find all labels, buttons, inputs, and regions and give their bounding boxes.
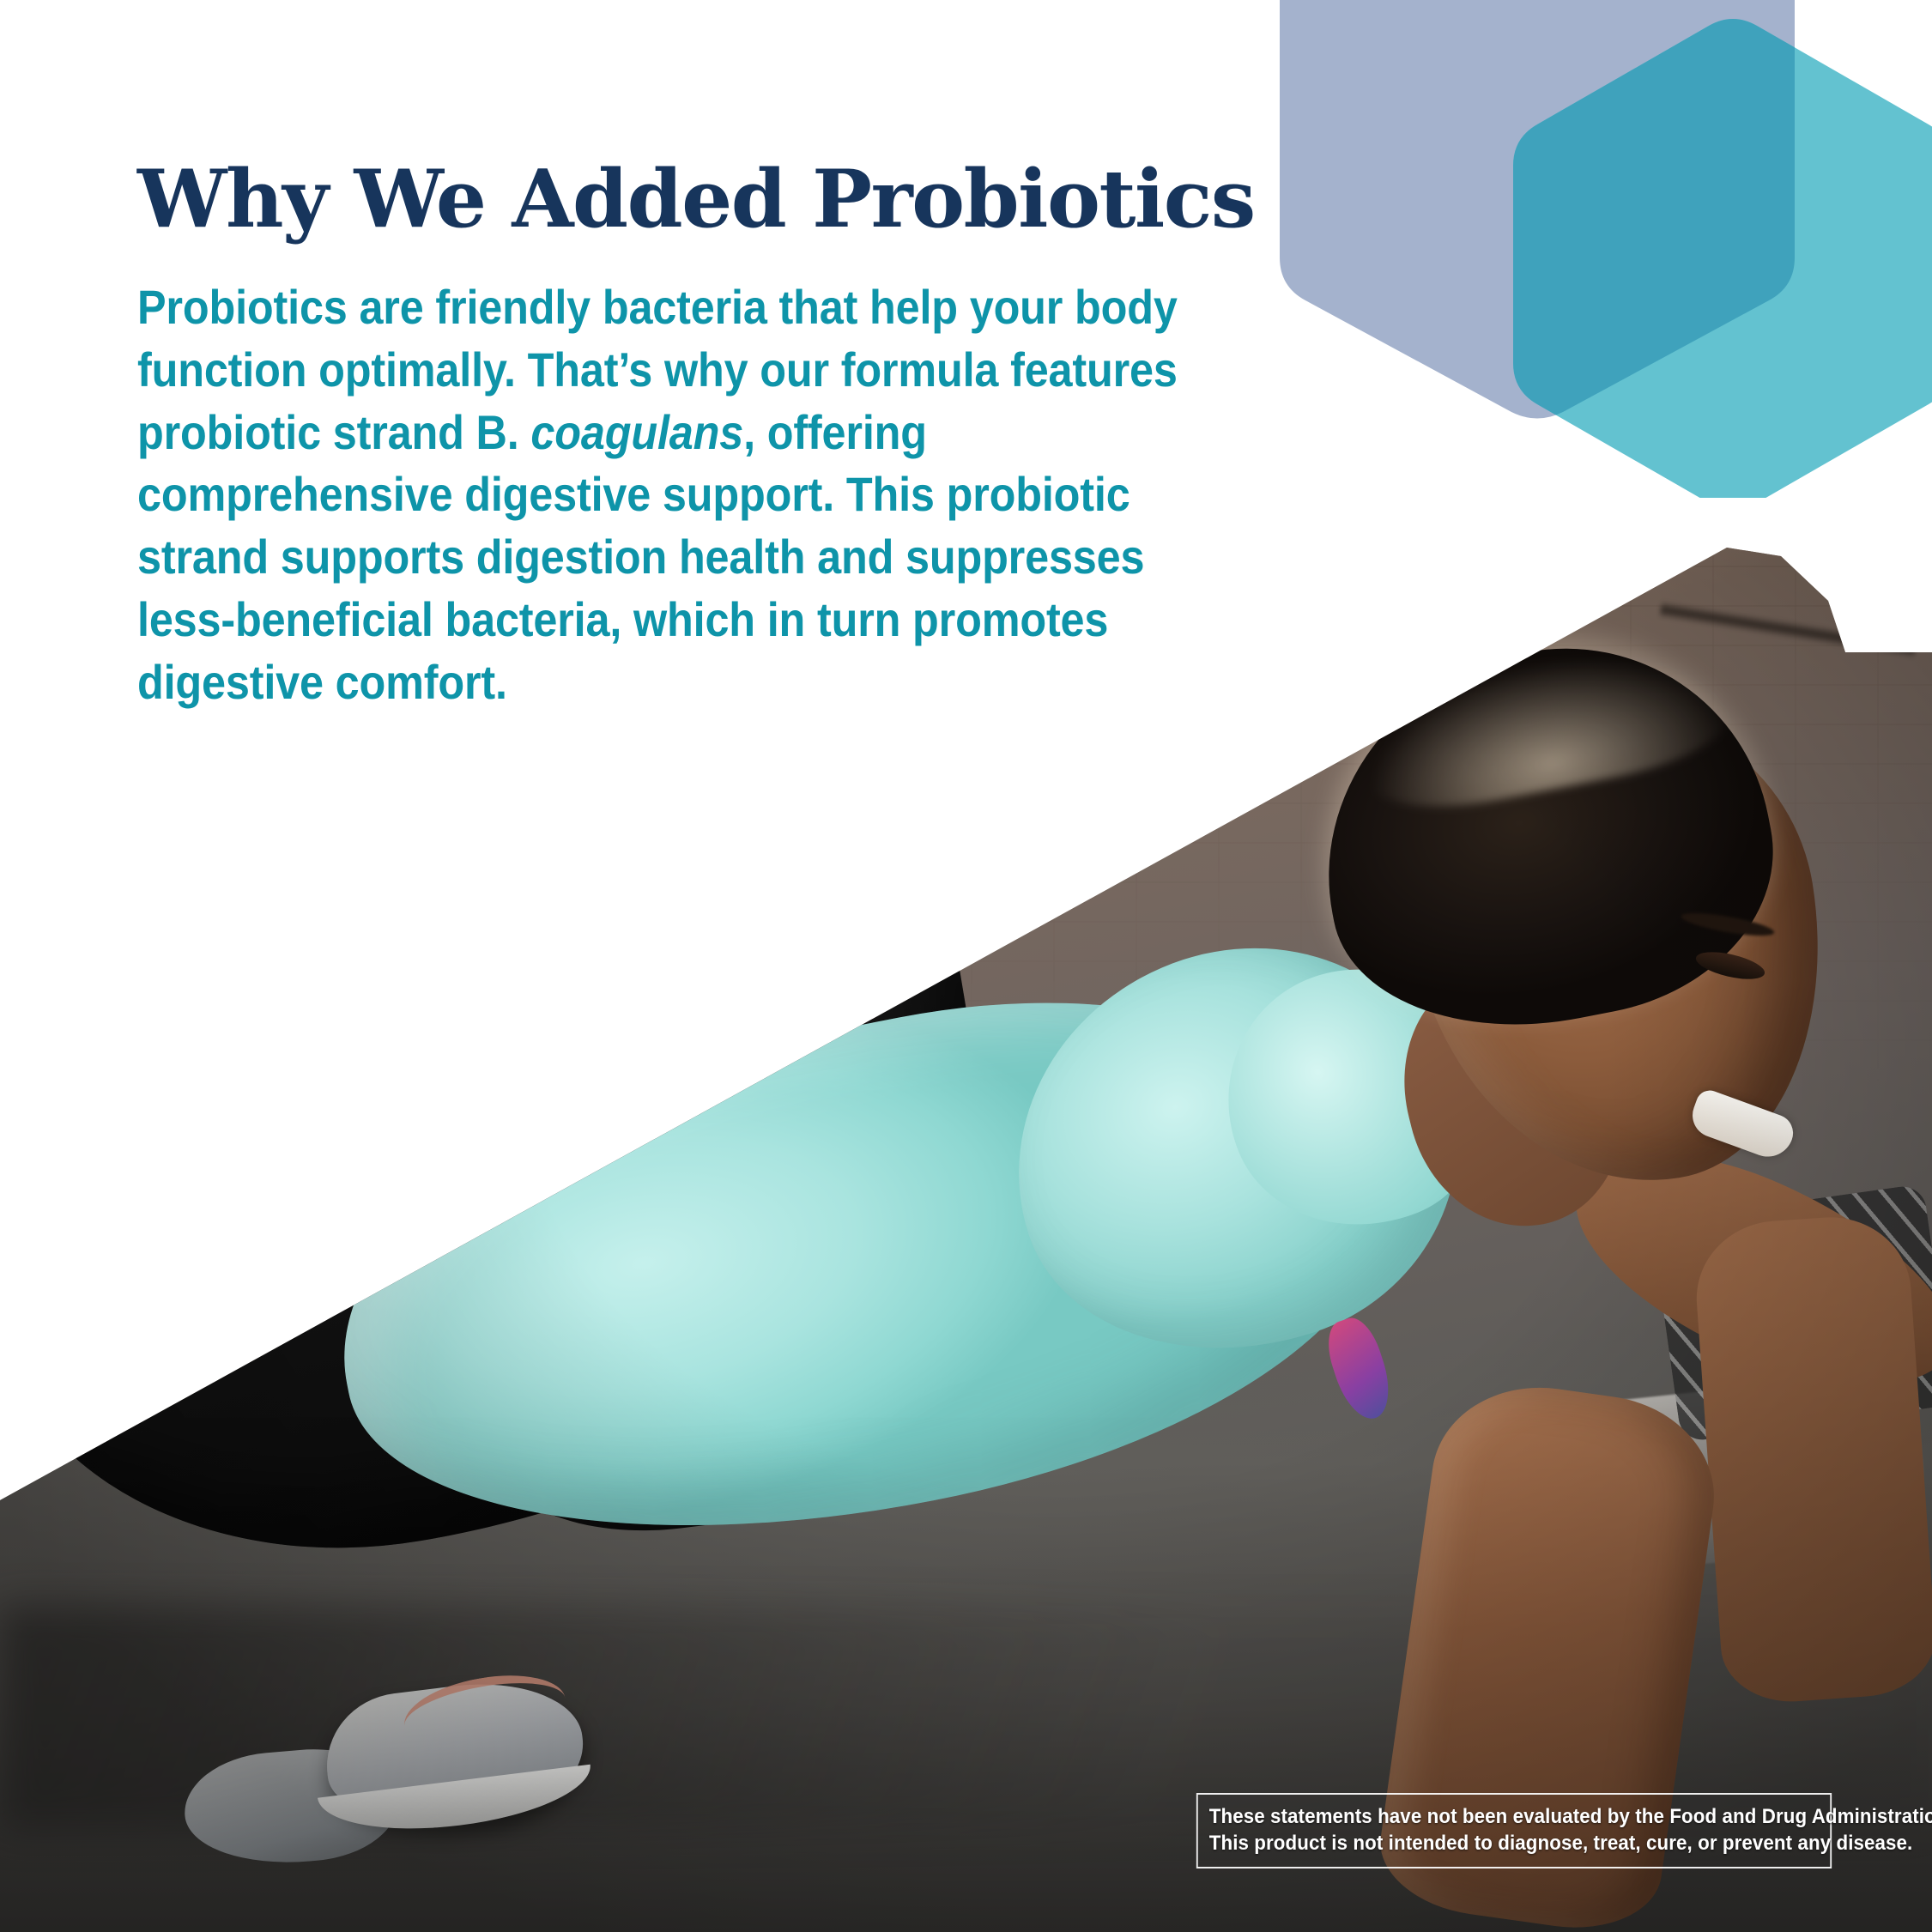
body-paragraph: Probiotics are friendly bacteria that he… (137, 276, 1242, 714)
page-title: Why We Added Probiotics (137, 159, 1399, 239)
fda-disclaimer-line-2: This product is not intended to diagnose… (1209, 1830, 1820, 1856)
species-name-italic: coagulans (530, 405, 743, 459)
hexagon-overlap (1513, 19, 1932, 498)
marketing-page: Why We Added Probiotics Probiotics are f… (0, 0, 1932, 1932)
fda-disclaimer-line-1: These statements have not been evaluated… (1209, 1803, 1820, 1830)
fda-disclaimer: These statements have not been evaluated… (1196, 1793, 1832, 1868)
text-block: Why We Added Probiotics Probiotics are f… (137, 159, 1399, 714)
teal-hexagon (1513, 19, 1932, 498)
